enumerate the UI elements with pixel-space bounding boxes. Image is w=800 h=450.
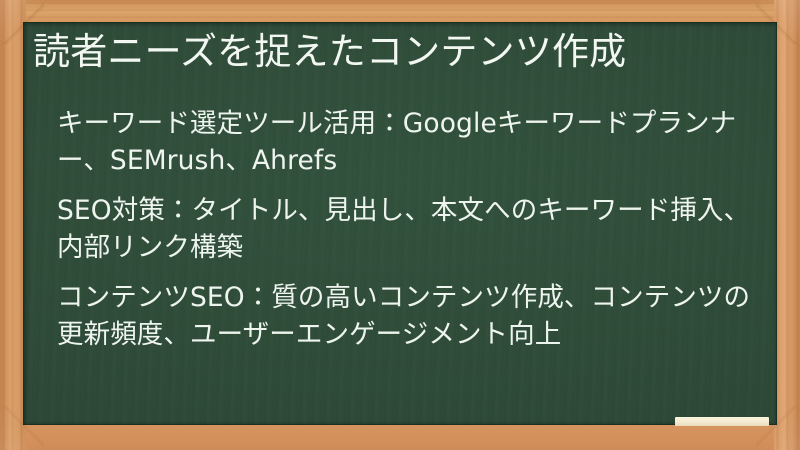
list-item: SEO対策：タイトル、見出し、本文へのキーワード挿入、内部リンク構築 [57,193,761,266]
chalkboard-slide: 読者ニーズを捉えたコンテンツ作成 キーワード選定ツール活用：Googleキーワー… [0,0,800,450]
list-item: キーワード選定ツール活用：Googleキーワードプランナー、SEMrush、Ah… [57,106,761,179]
bullet-list: キーワード選定ツール活用：Googleキーワードプランナー、SEMrush、Ah… [57,106,761,353]
frame-right-stile [774,0,800,450]
page-title: 読者ニーズを捉えたコンテンツ作成 [33,29,626,75]
frame-bottom-rail [0,424,800,450]
chalk-stick-icon [675,417,769,426]
list-item: コンテンツSEO：質の高いコンテンツ作成、コンテンツの更新頻度、ユーザーエンゲー… [57,280,761,353]
frame-top-rail [0,0,800,24]
slide-content: 読者ニーズを捉えたコンテンツ作成 キーワード選定ツール活用：Googleキーワー… [23,22,777,425]
chalkboard-surface: 読者ニーズを捉えたコンテンツ作成 キーワード選定ツール活用：Googleキーワー… [23,22,777,425]
